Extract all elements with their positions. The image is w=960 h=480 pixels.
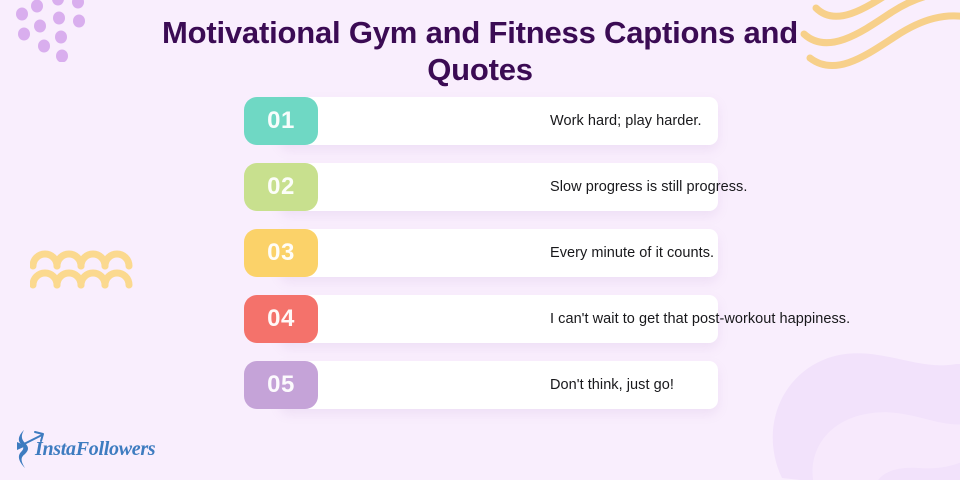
page-title: Motivational Gym and Fitness Captions an… [120, 14, 840, 88]
brand-logo[interactable]: InstaFollowers [8, 426, 142, 472]
list-item[interactable]: Every minute of it counts. 03 [244, 229, 718, 277]
quote-text: Every minute of it counts. [550, 229, 704, 277]
number-badge: 02 [244, 163, 318, 211]
list-item[interactable]: Slow progress is still progress. 02 [244, 163, 718, 211]
number-badge: 01 [244, 97, 318, 145]
quote-text: Slow progress is still progress. [550, 163, 704, 211]
number-badge: 04 [244, 295, 318, 343]
list-item[interactable]: Work hard; play harder. 01 [244, 97, 718, 145]
quote-text: I can't wait to get that post-workout ha… [550, 295, 704, 343]
list-item[interactable]: Don't think, just go! 05 [244, 361, 718, 409]
scallop-arcs-decoration [30, 248, 134, 290]
brand-wordmark: InstaFollowers [35, 438, 155, 461]
dot-cluster-decoration [2, 0, 98, 62]
page-title-line-2: Quotes [120, 51, 840, 88]
quote-list: Work hard; play harder. 01 Slow progress… [244, 97, 718, 409]
list-item[interactable]: I can't wait to get that post-workout ha… [244, 295, 718, 343]
page-title-line-1: Motivational Gym and Fitness Captions an… [120, 14, 840, 51]
quote-text: Work hard; play harder. [550, 97, 704, 145]
infographic-canvas: Motivational Gym and Fitness Captions an… [0, 0, 960, 480]
number-badge: 03 [244, 229, 318, 277]
quote-text: Don't think, just go! [550, 361, 704, 409]
number-badge: 05 [244, 361, 318, 409]
blob-decoration [766, 328, 960, 480]
